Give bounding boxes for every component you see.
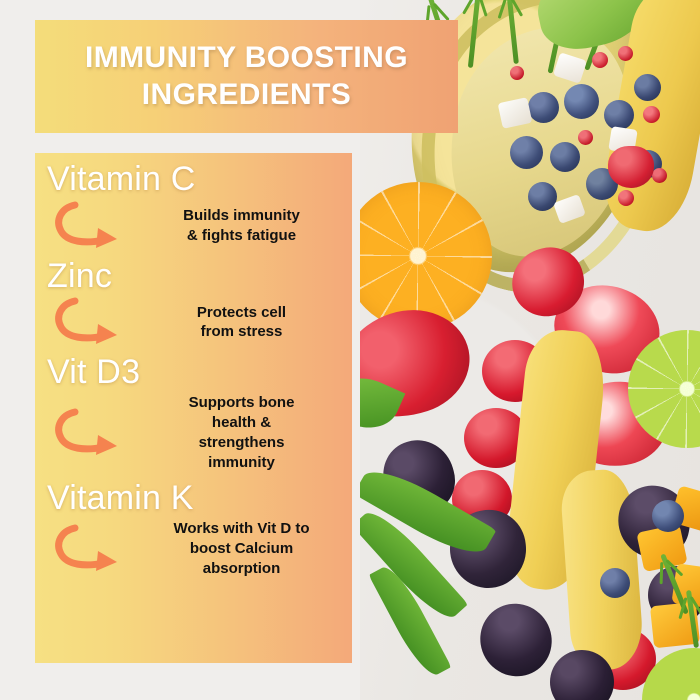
page-title: IMMUNITY BOOSTING INGREDIENTS <box>85 40 408 113</box>
pomegranate-seed <box>578 130 593 145</box>
ingredient-name: Zinc <box>35 258 352 295</box>
ingredient-benefit: Supports bone health & strengthens immun… <box>143 393 352 472</box>
blueberry-icon <box>652 500 684 532</box>
raspberry-icon <box>608 146 654 188</box>
benefit-line: & fights fatigue <box>143 226 340 246</box>
benefit-line: from stress <box>143 322 340 342</box>
blueberry-icon <box>550 142 580 172</box>
benefit-line: strengthens <box>143 433 340 453</box>
blueberry-icon <box>600 568 630 598</box>
benefit-line: Protects cell <box>143 303 340 323</box>
curved-arrow-icon <box>35 200 143 252</box>
pomegranate-seed <box>643 106 660 123</box>
ingredient-item-vitamin-k: Vitamin K Works with Vit D to boost Calc… <box>35 480 352 578</box>
curved-arrow-icon <box>35 407 143 459</box>
ingredients-card: Vitamin C Builds immunity & fights fatig… <box>35 153 352 663</box>
pomegranate-seed <box>510 66 524 80</box>
benefit-line: Supports bone <box>143 393 340 413</box>
ingredient-benefit-row: Works with Vit D to boost Calcium absorp… <box>35 519 352 578</box>
pomegranate-seed <box>652 168 667 183</box>
curved-arrow-icon <box>35 296 143 348</box>
ingredient-name: Vitamin K <box>35 480 352 517</box>
blueberry-icon <box>604 100 634 130</box>
infographic-poster: IMMUNITY BOOSTING INGREDIENTS Vitamin C … <box>0 0 700 700</box>
ingredient-benefit-row: Builds immunity & fights fatigue <box>35 200 352 252</box>
blueberry-icon <box>528 182 557 211</box>
title-line-2: INGREDIENTS <box>85 77 408 114</box>
benefit-line: Works with Vit D to <box>143 519 340 539</box>
blueberry-icon <box>510 136 543 169</box>
title-line-1: IMMUNITY BOOSTING <box>85 40 408 77</box>
ingredient-benefit-row: Protects cell from stress <box>35 296 352 348</box>
ingredient-benefit-row: Supports bone health & strengthens immun… <box>35 393 352 472</box>
ingredient-item-vitamin-c: Vitamin C Builds immunity & fights fatig… <box>35 161 352 252</box>
ingredient-name: Vit D3 <box>35 354 352 391</box>
ingredient-benefit: Builds immunity & fights fatigue <box>143 206 352 246</box>
curved-arrow-icon <box>35 523 143 575</box>
benefit-line: absorption <box>143 559 340 579</box>
ingredient-name: Vitamin C <box>35 161 352 198</box>
pomegranate-seed <box>618 46 633 61</box>
benefit-line: health & <box>143 413 340 433</box>
benefit-line: immunity <box>143 453 340 473</box>
ingredient-item-zinc: Zinc Protects cell from stress <box>35 258 352 349</box>
pomegranate-seed <box>592 52 608 68</box>
title-banner: IMMUNITY BOOSTING INGREDIENTS <box>35 20 458 133</box>
pomegranate-seed <box>618 190 634 206</box>
ingredient-benefit: Protects cell from stress <box>143 303 352 343</box>
blueberry-icon <box>634 74 661 101</box>
blueberry-icon <box>564 84 599 119</box>
ingredient-item-vit-d3: Vit D3 Supports bone health & strengthen… <box>35 354 352 472</box>
benefit-line: boost Calcium <box>143 539 340 559</box>
benefit-line: Builds immunity <box>143 206 340 226</box>
blueberry-icon <box>528 92 559 123</box>
ingredient-benefit: Works with Vit D to boost Calcium absorp… <box>143 519 352 578</box>
